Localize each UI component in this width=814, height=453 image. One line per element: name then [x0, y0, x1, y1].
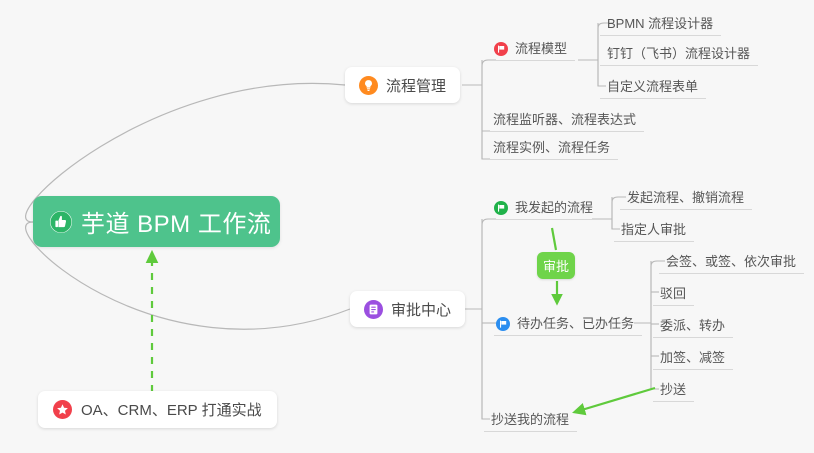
- flag-icon: [494, 42, 508, 56]
- leaf-label: 抄送我的流程: [491, 409, 569, 431]
- note-oa-crm-erp[interactable]: OA、CRM、ERP 打通实战: [38, 391, 277, 428]
- leaf-label: 加签、减签: [660, 347, 725, 369]
- leaf-label: 驳回: [660, 283, 686, 305]
- flag-icon: [494, 201, 508, 215]
- leaf-custom-form[interactable]: 自定义流程表单: [600, 74, 706, 99]
- leaf-bpmn-designer[interactable]: BPMN 流程设计器: [600, 11, 721, 36]
- leaf-countersign[interactable]: 会签、或签、依次审批: [659, 249, 804, 274]
- leaf-label: 钉钉（飞书）流程设计器: [607, 43, 750, 65]
- node-label: 流程模型: [515, 38, 567, 60]
- leaf-label: BPMN 流程设计器: [607, 13, 713, 35]
- approval-badge-label: 审批: [543, 256, 569, 275]
- leaf-label: 流程实例、流程任务: [493, 137, 610, 159]
- note-label: OA、CRM、ERP 打通实战: [81, 399, 262, 420]
- leaf-delegate-transfer[interactable]: 委派、转办: [653, 313, 733, 338]
- leaf-dingtalk-designer[interactable]: 钉钉（飞书）流程设计器: [600, 41, 758, 66]
- leaf-cc-to-me-process[interactable]: 抄送我的流程: [484, 407, 577, 432]
- branch-label: 流程管理: [386, 75, 446, 96]
- thumbs-up-icon: [50, 211, 72, 233]
- branch-approval-center[interactable]: 审批中心: [350, 291, 465, 327]
- root-node[interactable]: 芋道 BPM 工作流: [33, 196, 280, 247]
- leaf-reject[interactable]: 驳回: [653, 281, 694, 306]
- clipboard-icon: [364, 300, 383, 319]
- star-icon: [53, 400, 72, 419]
- leaf-process-listener[interactable]: 流程监听器、流程表达式: [486, 107, 644, 132]
- mindmap-canvas: 芋道 BPM 工作流 流程管理 流程模型 BPMN 流程设计器 钉钉（飞书: [0, 0, 814, 453]
- leaf-add-remove-sign[interactable]: 加签、减签: [653, 345, 733, 370]
- leaf-label: 抄送: [660, 379, 686, 401]
- leaf-process-instance[interactable]: 流程实例、流程任务: [486, 135, 618, 160]
- flag-icon: [496, 317, 510, 331]
- leaf-label: 会签、或签、依次审批: [666, 251, 796, 273]
- leaf-label: 指定人审批: [621, 219, 686, 241]
- leaf-label: 委派、转办: [660, 315, 725, 337]
- node-process-model[interactable]: 流程模型: [492, 35, 575, 61]
- root-label: 芋道 BPM 工作流: [81, 204, 271, 239]
- node-my-started-processes[interactable]: 我发起的流程: [492, 194, 601, 220]
- leaf-label: 流程监听器、流程表达式: [493, 109, 636, 131]
- leaf-assigned-approval[interactable]: 指定人审批: [614, 217, 694, 242]
- node-todo-done-tasks[interactable]: 待办任务、已办任务: [494, 310, 642, 336]
- branch-label: 审批中心: [391, 299, 451, 320]
- arrow-approval-top: [552, 228, 556, 250]
- arrow-cc-to-ccflow: [575, 388, 655, 412]
- node-label: 待办任务、已办任务: [517, 313, 634, 335]
- leaf-cc[interactable]: 抄送: [653, 377, 694, 402]
- leaf-label: 发起流程、撤销流程: [627, 187, 744, 209]
- lightbulb-pin-icon: [359, 76, 378, 95]
- leaf-start-cancel-process[interactable]: 发起流程、撤销流程: [620, 185, 752, 210]
- branch-process-management[interactable]: 流程管理: [345, 67, 460, 103]
- leaf-label: 自定义流程表单: [607, 76, 698, 98]
- node-label: 我发起的流程: [515, 197, 593, 219]
- approval-badge: 审批: [537, 252, 575, 279]
